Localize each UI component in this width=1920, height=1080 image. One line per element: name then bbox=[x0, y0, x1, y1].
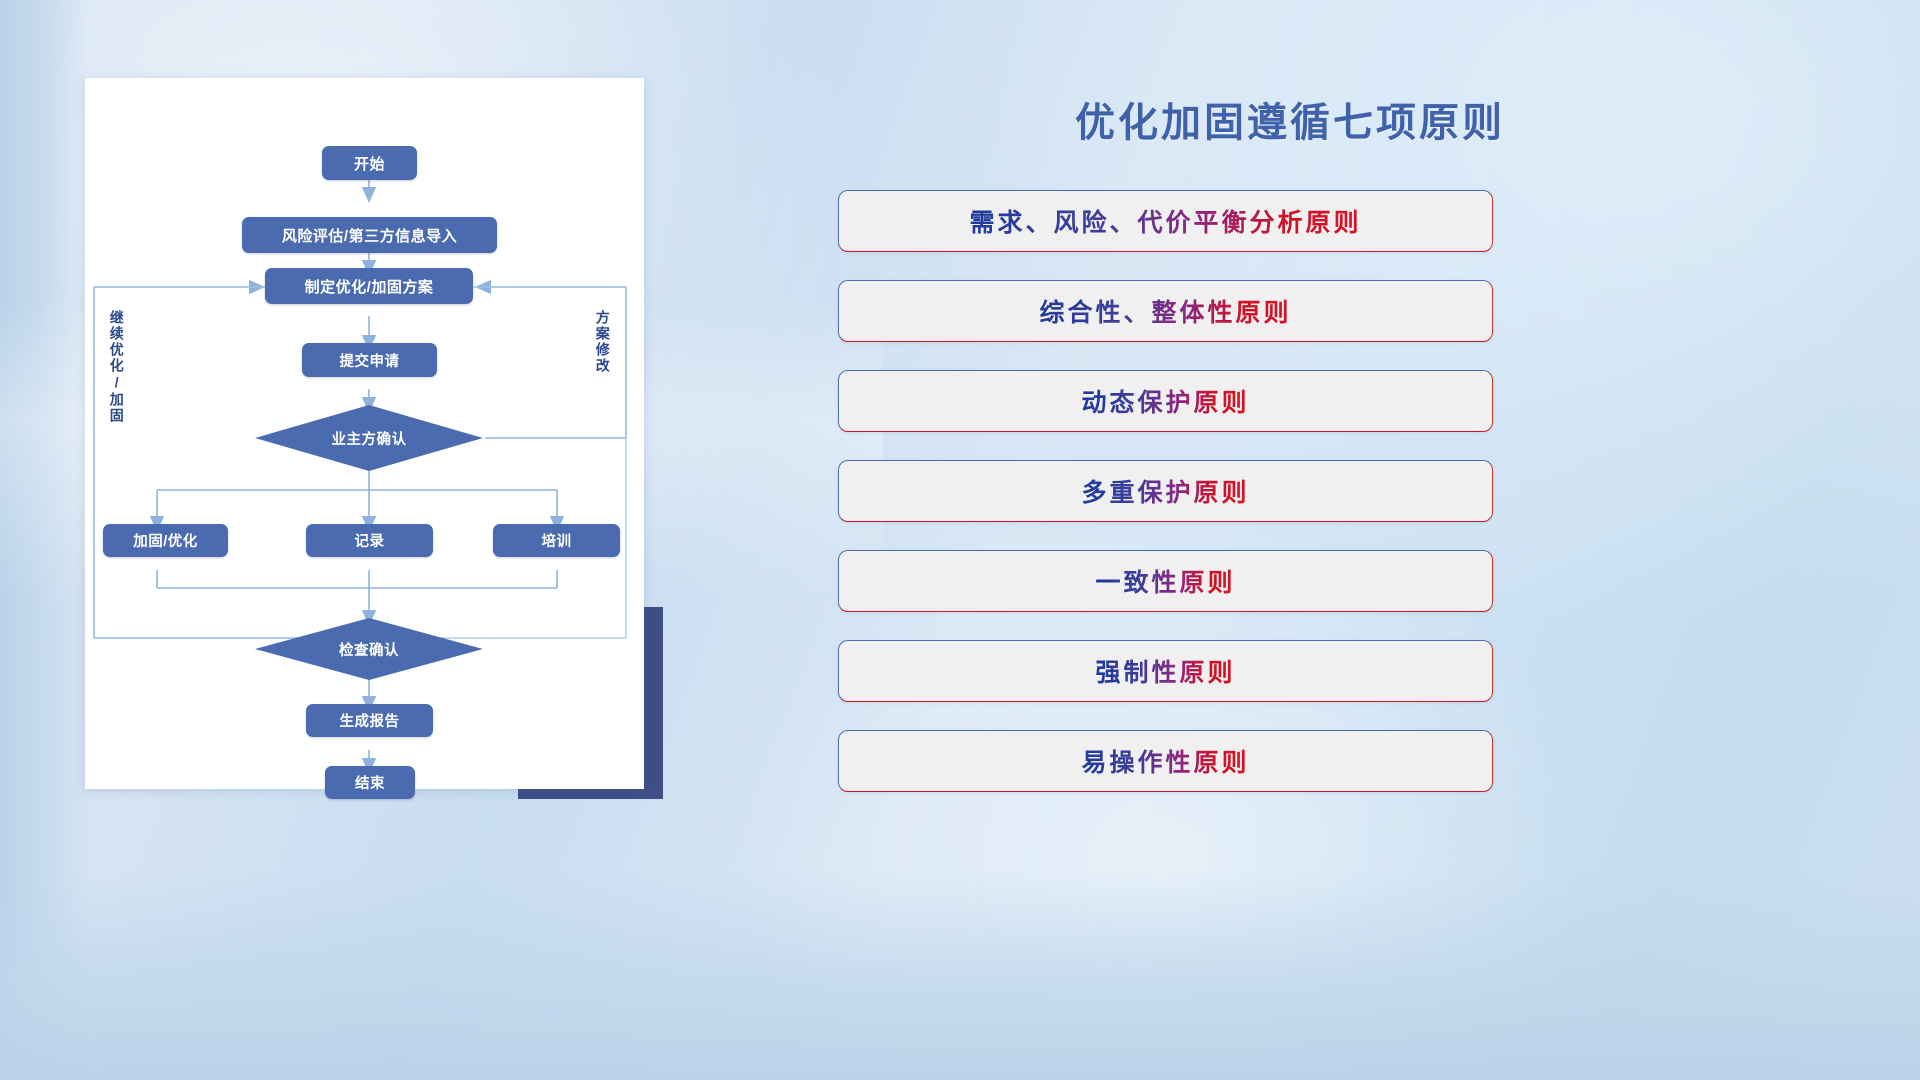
principle-card-3-label: 动态保护原则 bbox=[1081, 383, 1249, 419]
flow-node-owner-confirm-label: 业主方确认 bbox=[332, 428, 407, 449]
flowchart-card: 开始 风险评估/第三方信息导入 制定优化/加固方案 提交申请 业主方确认 加固/… bbox=[85, 78, 644, 789]
principle-card-7-label: 易操作性原则 bbox=[1081, 743, 1249, 779]
flow-node-generate-report[interactable]: 生成报告 bbox=[306, 704, 433, 737]
flow-label-continue-optimization: 继续优化/加固 bbox=[109, 310, 124, 424]
flow-node-training[interactable]: 培训 bbox=[493, 524, 620, 557]
flow-node-plan[interactable]: 制定优化/加固方案 bbox=[265, 268, 473, 304]
panel-title: 优化加固遵循七项原则 bbox=[940, 90, 1640, 148]
principle-card-7[interactable]: 易操作性原则 bbox=[838, 730, 1493, 792]
principle-card-2[interactable]: 综合性、整体性原则 bbox=[838, 280, 1493, 342]
principles-panel: 优化加固遵循七项原则 需求、风险、代价平衡分析原则 综合性、整体性原则 动态保护… bbox=[820, 60, 1880, 1020]
flow-node-owner-confirm[interactable]: 业主方确认 bbox=[255, 405, 483, 471]
principle-card-5-label: 一致性原则 bbox=[1095, 563, 1235, 599]
flow-node-submit-application[interactable]: 提交申请 bbox=[302, 343, 437, 377]
flow-label-plan-revision: 方案修改 bbox=[595, 310, 610, 374]
flow-node-start[interactable]: 开始 bbox=[322, 146, 417, 180]
flow-node-risk-assessment[interactable]: 风险评估/第三方信息导入 bbox=[242, 217, 497, 253]
principle-card-6-label: 强制性原则 bbox=[1095, 653, 1235, 689]
principle-card-3[interactable]: 动态保护原则 bbox=[838, 370, 1493, 432]
flow-node-reinforce-optimize[interactable]: 加固/优化 bbox=[103, 524, 228, 557]
flowchart: 开始 风险评估/第三方信息导入 制定优化/加固方案 提交申请 业主方确认 加固/… bbox=[85, 78, 644, 789]
principle-card-4[interactable]: 多重保护原则 bbox=[838, 460, 1493, 522]
principles-card-list: 需求、风险、代价平衡分析原则 综合性、整体性原则 动态保护原则 多重保护原则 一… bbox=[838, 190, 1493, 820]
flow-node-end[interactable]: 结束 bbox=[325, 766, 415, 799]
principle-card-1[interactable]: 需求、风险、代价平衡分析原则 bbox=[838, 190, 1493, 252]
flow-node-record[interactable]: 记录 bbox=[306, 524, 433, 557]
principle-card-4-label: 多重保护原则 bbox=[1081, 473, 1249, 509]
principle-card-1-label: 需求、风险、代价平衡分析原则 bbox=[969, 203, 1361, 239]
flow-node-check-confirm[interactable]: 检查确认 bbox=[255, 618, 483, 680]
principle-card-2-label: 综合性、整体性原则 bbox=[1039, 293, 1291, 329]
principle-card-6[interactable]: 强制性原则 bbox=[838, 640, 1493, 702]
flow-node-check-confirm-label: 检查确认 bbox=[339, 639, 399, 660]
principle-card-5[interactable]: 一致性原则 bbox=[838, 550, 1493, 612]
